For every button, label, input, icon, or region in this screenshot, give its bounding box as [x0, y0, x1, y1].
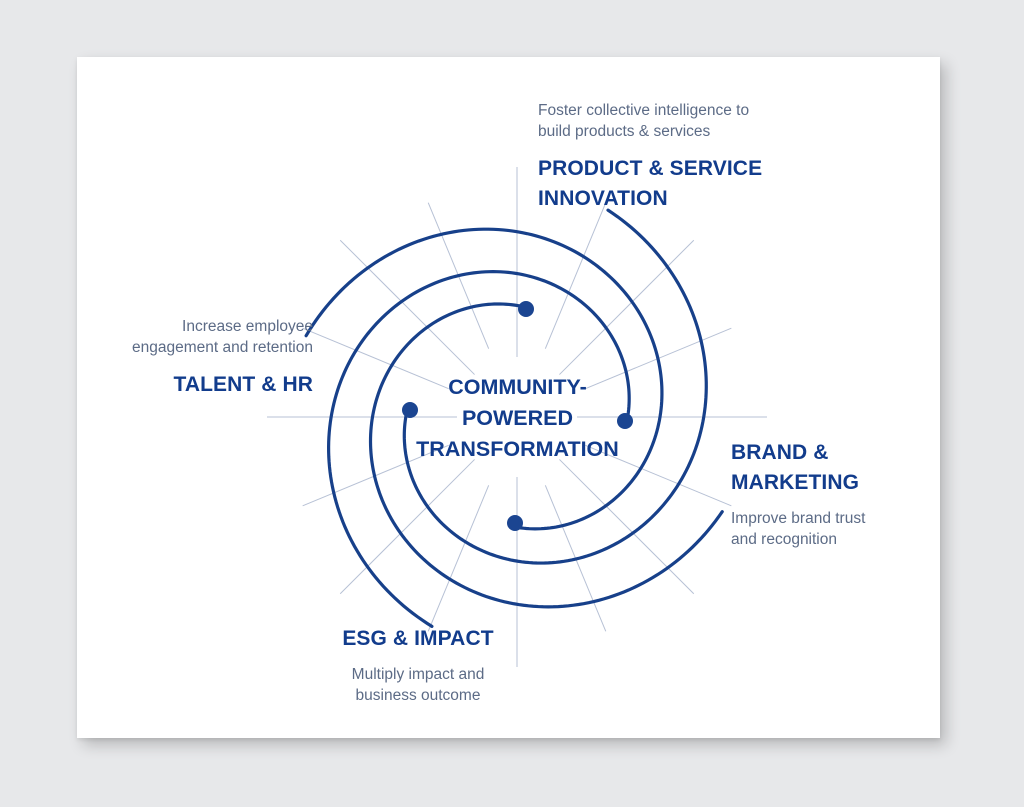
quadrant-title: ESG & IMPACT: [278, 624, 558, 654]
quadrant-title: BRAND & MARKETING: [731, 438, 971, 498]
quadrant-title: TALENT & HR: [58, 370, 313, 400]
quadrant-label-esg-impact: ESG & IMPACT Multiply impact and busines…: [278, 624, 558, 706]
quadrant-label-brand-marketing: BRAND & MARKETING Improve brand trust an…: [731, 438, 971, 550]
quadrant-label-product-service-innovation: Foster collective intelligence to build …: [538, 100, 868, 214]
diagram-stage: Foster collective intelligence to build …: [0, 0, 1024, 807]
quadrant-description: Increase employee engagement and retenti…: [58, 316, 313, 358]
quadrant-title: PRODUCT & SERVICE INNOVATION: [538, 154, 868, 214]
center-label: COMMUNITY- POWERED TRANSFORMATION: [395, 372, 640, 465]
quadrant-description: Foster collective intelligence to build …: [538, 100, 868, 142]
quadrant-label-talent-hr: Increase employee engagement and retenti…: [58, 316, 313, 400]
quadrant-description: Improve brand trust and recognition: [731, 508, 971, 550]
quadrant-description: Multiply impact and business outcome: [278, 664, 558, 706]
